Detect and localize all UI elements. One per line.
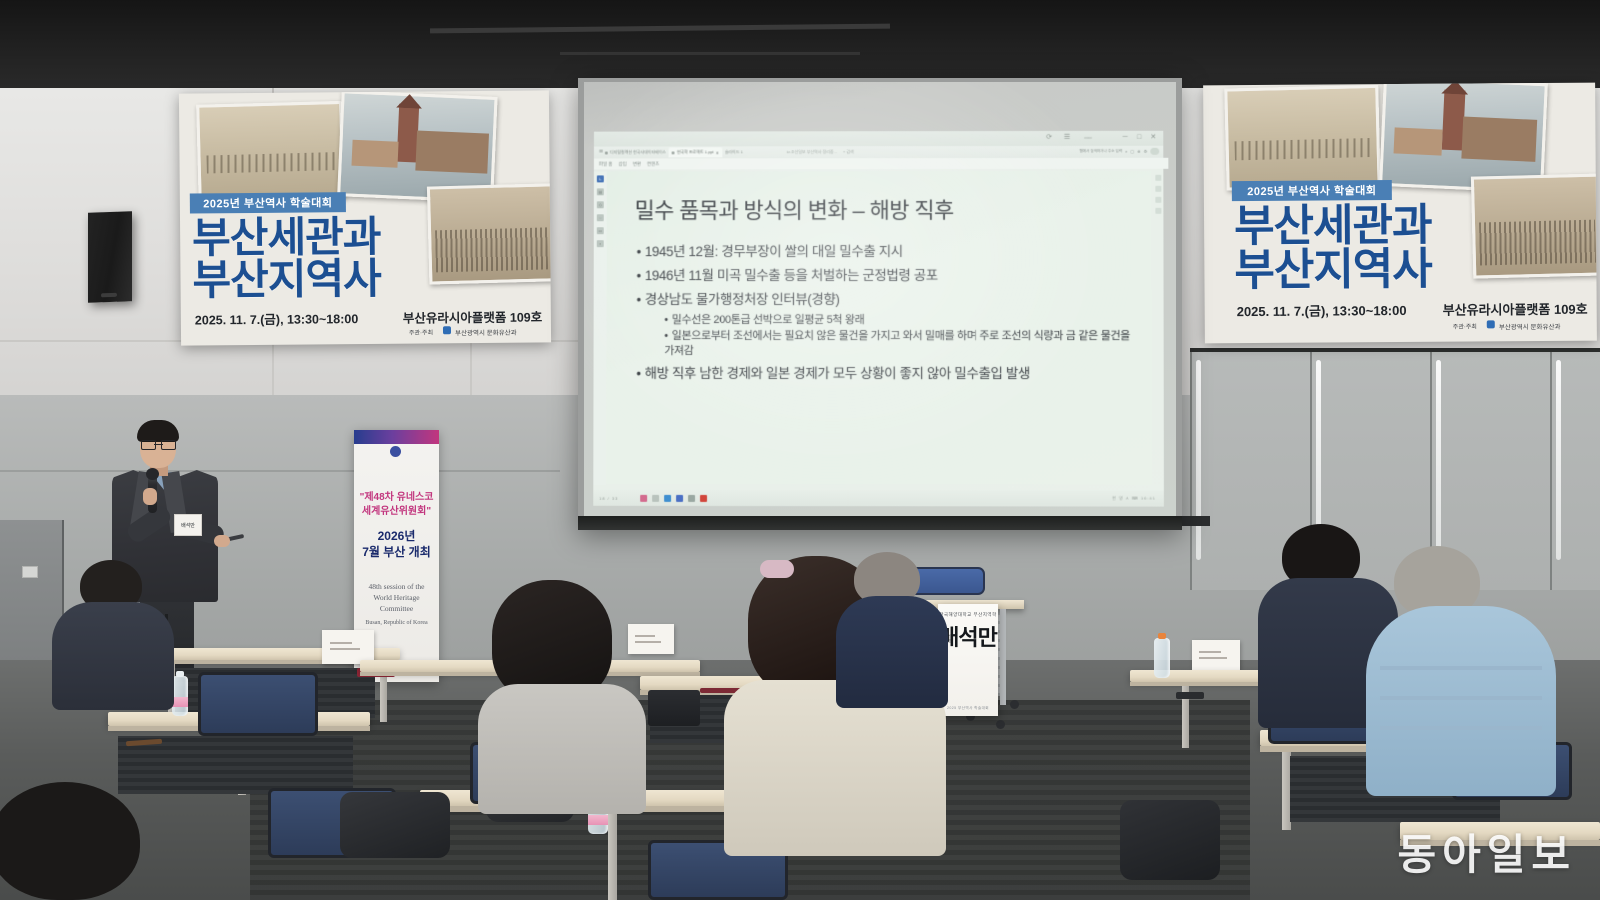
presenter-name-badge: 배석만 [174, 514, 202, 536]
slide-bullet: •경상남도 물가행정처장 인터뷰(경향) [636, 289, 1135, 311]
slide-bullet: •1946년 11월 미곡 밀수출 등을 처벌하는 군정법령 공포 [637, 265, 1136, 287]
nameplate-affiliation: 한국해양대학교 부산지역학 [938, 612, 998, 618]
browser-tab-0[interactable]: 디지털컬렉션 한국사데이터베이스 [602, 147, 669, 157]
backpack [340, 792, 450, 858]
slide-bullet: •해방 직후 남한 경제와 일본 경제가 모두 상황이 좋지 않아 밀수출입 발… [636, 363, 1135, 385]
water-bottle [1154, 638, 1170, 678]
taskbar-browser-icon[interactable] [664, 494, 671, 501]
organizer-logo-icon [1487, 320, 1495, 328]
nameplate-event: 2025 부산역사 학술대회 [938, 706, 998, 711]
banner-organizer-label: 주관·주최 [1453, 321, 1477, 330]
banner-organizer-label: 주관·주최 [409, 327, 433, 336]
settings-icon[interactable]: ⚙ [1144, 149, 1148, 154]
lectern-frame [1000, 609, 1006, 705]
banner-title-line2: 부산지역사 [1234, 248, 1432, 294]
phone [1176, 692, 1204, 699]
banner-photo-group [427, 183, 551, 284]
tab-label: 디지털컬렉션 한국사데이터베이스 [610, 149, 666, 155]
banner-date: 2025. 11. 7.(금), 13:30~18:00 [1237, 300, 1407, 320]
laptop [648, 690, 700, 726]
taskbar-slide-counter: 18 / 33 [599, 495, 618, 500]
tab-close-icon[interactable]: ✕ [716, 150, 719, 155]
sidebar-item-outline[interactable]: ▤ [597, 188, 604, 195]
banner-left: 2025년 부산역사 학술대회 부산세관과 부산지역사 2025. 11. 7.… [179, 90, 551, 345]
banner-photo-harbor [196, 101, 345, 203]
slide-subbullet: •일본으로부터 조선에서는 필요치 않은 물건을 가지고 와서 밀매를 하며 주… [664, 328, 1135, 360]
wall-speaker [88, 211, 132, 303]
menu-item-2[interactable]: 변환 [633, 161, 641, 167]
taskbar-app-icon[interactable] [688, 494, 695, 501]
bullet-dot-icon: • [636, 363, 640, 385]
omnibox-area: 웹에서 검색하거나 주소 입력 ⌕ ▢ ⊕ ⚙ [1079, 148, 1159, 155]
rollup-year-line2: 7월 부산 개최 [354, 546, 439, 560]
banner-organizer: 부산광역시 문화유산과 [1499, 321, 1561, 331]
rail-icon-1[interactable] [1155, 186, 1161, 192]
backpack [1120, 800, 1220, 880]
sidebar-item-more[interactable]: ▪ [597, 240, 604, 247]
caster-wheel [996, 720, 1005, 729]
banner-right: 2025년 부산역사 학술대회 부산세관과 부산지역사 2025. 11. 7.… [1203, 83, 1597, 344]
browser-tab-2[interactable]: 슬라이드 1 [722, 147, 746, 157]
slide-canvas: 밀수 품목과 방식의 변화 – 해방 직후 •1945년 12월: 경무부장이 … [606, 171, 1152, 485]
hair-scrunchie [760, 560, 794, 578]
browser-tabstrip: ≡ 디지털컬렉션 한국사데이터베이스 한국학 프로젝트 1.ppt ✕ 슬라이드… [594, 146, 1163, 159]
desk-leg [608, 812, 617, 900]
banner-venue: 부산유라시아플랫폼 109호 [403, 306, 543, 326]
menu-item-1[interactable]: 삽입 [618, 161, 626, 167]
sidebar-item-comments[interactable]: ◌ [597, 214, 604, 221]
desk-modesty-panel [118, 736, 353, 794]
bullet-dot-icon: • [664, 313, 668, 329]
app-right-rail [1154, 175, 1161, 214]
tab-label: 한국학 프로젝트 1.ppt [677, 149, 714, 155]
presenter-hand-left [143, 488, 157, 505]
table-tent-card [1192, 640, 1240, 670]
tab-list-icon[interactable]: ≡ [597, 149, 605, 157]
refresh-icon[interactable]: ⟳ [1045, 134, 1053, 142]
slide-bullet-list: •1945년 12월: 경무부장이 쌀의 대일 밀수출 지시 •1946년 11… [636, 241, 1135, 388]
app-sidebar: L ▤ ◇ ◌ ▭ ▪ [593, 171, 607, 484]
taskbar-search-icon[interactable] [652, 494, 659, 501]
banner-organizer: 부산광역시 문화유산과 [455, 327, 517, 338]
banner-title-line1: 부산세관과 [192, 216, 381, 260]
slide-bullet-text: 해방 직후 남한 경제와 일본 경제가 모두 상황이 좋지 않아 밀수출입 발생 [645, 366, 1030, 381]
slide-subbullet: •밀수선은 200톤급 선박으로 일평균 5척 왕래 [664, 313, 1135, 329]
bullet-dot-icon: • [664, 328, 668, 344]
presenter-hair [137, 420, 179, 442]
desk [1400, 822, 1600, 840]
rollup-en-line1: 48th session of the [354, 582, 439, 592]
screen-bottom-bar [578, 516, 1182, 530]
banner-photo-harbor [1224, 85, 1380, 191]
close-icon[interactable]: ✕ [1149, 134, 1157, 142]
ceiling-beam-secondary [560, 52, 860, 55]
bottle-label [172, 697, 188, 707]
unesco-emblem-icon [390, 446, 401, 457]
menu-item-0[interactable]: 파일 홈 [599, 161, 613, 167]
caster-wheel [1010, 700, 1019, 709]
tab-favicon-icon [605, 151, 608, 154]
tab-label: 슬라이드 1 [725, 149, 743, 155]
table-tent-card [322, 630, 374, 664]
sidebar-item-slide-thumb[interactable]: L [597, 175, 604, 182]
banner-ribbon: 2025년 부산역사 학술대회 [190, 192, 346, 213]
banner-ribbon: 2025년 부산역사 학술대회 [1232, 180, 1392, 201]
microphone-head [146, 468, 159, 480]
app-menubar: 파일 홈 삽입 변환 컨텐츠 [594, 158, 1168, 170]
rollup-year-line1: 2026년 [354, 530, 439, 544]
taskbar-icon-group [640, 494, 707, 501]
slide-bullet: •1945년 12월: 경무부장이 쌀의 대일 밀수출 지시 [637, 241, 1136, 263]
ceiling-beam [430, 24, 890, 34]
slide-bullet-text: 경상남도 물가행정처장 인터뷰(경향) [645, 292, 840, 307]
organizer-logo-icon [443, 326, 451, 334]
slide-bullet-text: 1946년 11월 미곡 밀수출 등을 처벌하는 군정법령 공포 [645, 268, 938, 283]
taskbar-powerpoint-icon[interactable] [700, 494, 707, 501]
banner-title-line1: 부산세관과 [1234, 204, 1432, 250]
presenter-hand-right [214, 535, 230, 547]
banner-date: 2025. 11. 7.(금), 13:30~18:00 [195, 308, 359, 328]
rollup-header-strip [354, 430, 439, 444]
menu-item-3[interactable]: 컨텐츠 [647, 161, 659, 167]
slide-bullet-text: 밀수선은 200톤급 선박으로 일평균 5척 왕래 [672, 314, 865, 326]
water-bottle [172, 676, 188, 716]
projected-application-window: ─ □ ✕ ⟳ ☰ ▭▭ ≡ 디지털컬렉션 한국사데이터베이스 한국학 프로젝트… [593, 131, 1164, 507]
bullet-dot-icon: • [637, 265, 641, 287]
banner-title-line2: 부산지역사 [192, 258, 381, 302]
bottle-label [588, 815, 608, 825]
tab-group-label: ▭▭ [1077, 134, 1099, 142]
search-icon[interactable]: ⌕ [1125, 149, 1127, 154]
browser-tab-1[interactable]: 한국학 프로젝트 1.ppt ✕ [669, 147, 722, 157]
bullet-dot-icon: • [636, 289, 640, 311]
new-tab-button[interactable]: + 검색 [840, 147, 857, 157]
banner-photo-group [1471, 173, 1597, 278]
slide-bullet-text: 1945년 12월: 경무부장이 쌀의 대일 밀수출 지시 [645, 244, 903, 259]
rail-icon-0[interactable] [1155, 175, 1161, 181]
maximize-icon[interactable]: □ [1135, 134, 1143, 142]
avatar[interactable] [1150, 148, 1159, 155]
extensions-icon[interactable]: ⊕ [1137, 149, 1140, 154]
banner-venue: 부산유라시아플랫폼 109호 [1443, 299, 1588, 319]
rollup-en-line3: Committee [354, 604, 439, 614]
taskbar-explorer-icon[interactable] [676, 494, 683, 501]
bookmark-icon[interactable]: ▢ [1130, 149, 1134, 154]
taskbar-tray: 한 영 ∧ ⌨ 16:41 [1112, 495, 1156, 501]
taskbar-start-icon[interactable] [640, 494, 647, 501]
lecture-hall-photo: 2025년 부산역사 학술대회 부산세관과 부산지역사 2025. 11. 7.… [0, 0, 1600, 900]
minimize-icon[interactable]: ─ [1121, 134, 1129, 142]
rollup-quote-line1: "제48차 유네스코 [354, 492, 439, 504]
tab-favicon-icon [672, 151, 675, 154]
slide-bullet-text: 일본으로부터 조선에서는 필요치 않은 물건을 가지고 와서 밀매를 하며 주로… [664, 329, 1130, 357]
os-taskbar: 18 / 33 한 영 ∧ ⌨ 16:41 [593, 490, 1164, 507]
search-placeholder: 웹에서 검색하거나 주소 입력 [1079, 149, 1122, 154]
address-hint: kr.조선일보 부산역사 정리중... [784, 147, 840, 157]
sidebar-item-notes[interactable]: ▭ [597, 227, 604, 234]
rollup-en-line2: World Heritage [354, 593, 439, 603]
bullet-dot-icon: • [637, 241, 641, 263]
slide-title: 밀수 품목과 방식의 변화 – 해방 직후 [635, 193, 1132, 225]
sidebar-item-shapes[interactable]: ◇ [597, 201, 604, 208]
window-titlebar: ─ □ ✕ ⟳ ☰ ▭▭ [594, 131, 1163, 147]
rollup-quote-line2: 세계유산위원회" [354, 506, 439, 518]
rail-icon-2[interactable] [1155, 197, 1161, 203]
list-icon[interactable]: ☰ [1063, 134, 1071, 142]
rail-icon-3[interactable] [1155, 208, 1161, 214]
glasses-icon [141, 440, 176, 448]
desk-edge [1400, 840, 1600, 846]
rollup-en-sub: Busan, Republic of Korea [354, 620, 439, 626]
table-tent-card [628, 624, 674, 654]
